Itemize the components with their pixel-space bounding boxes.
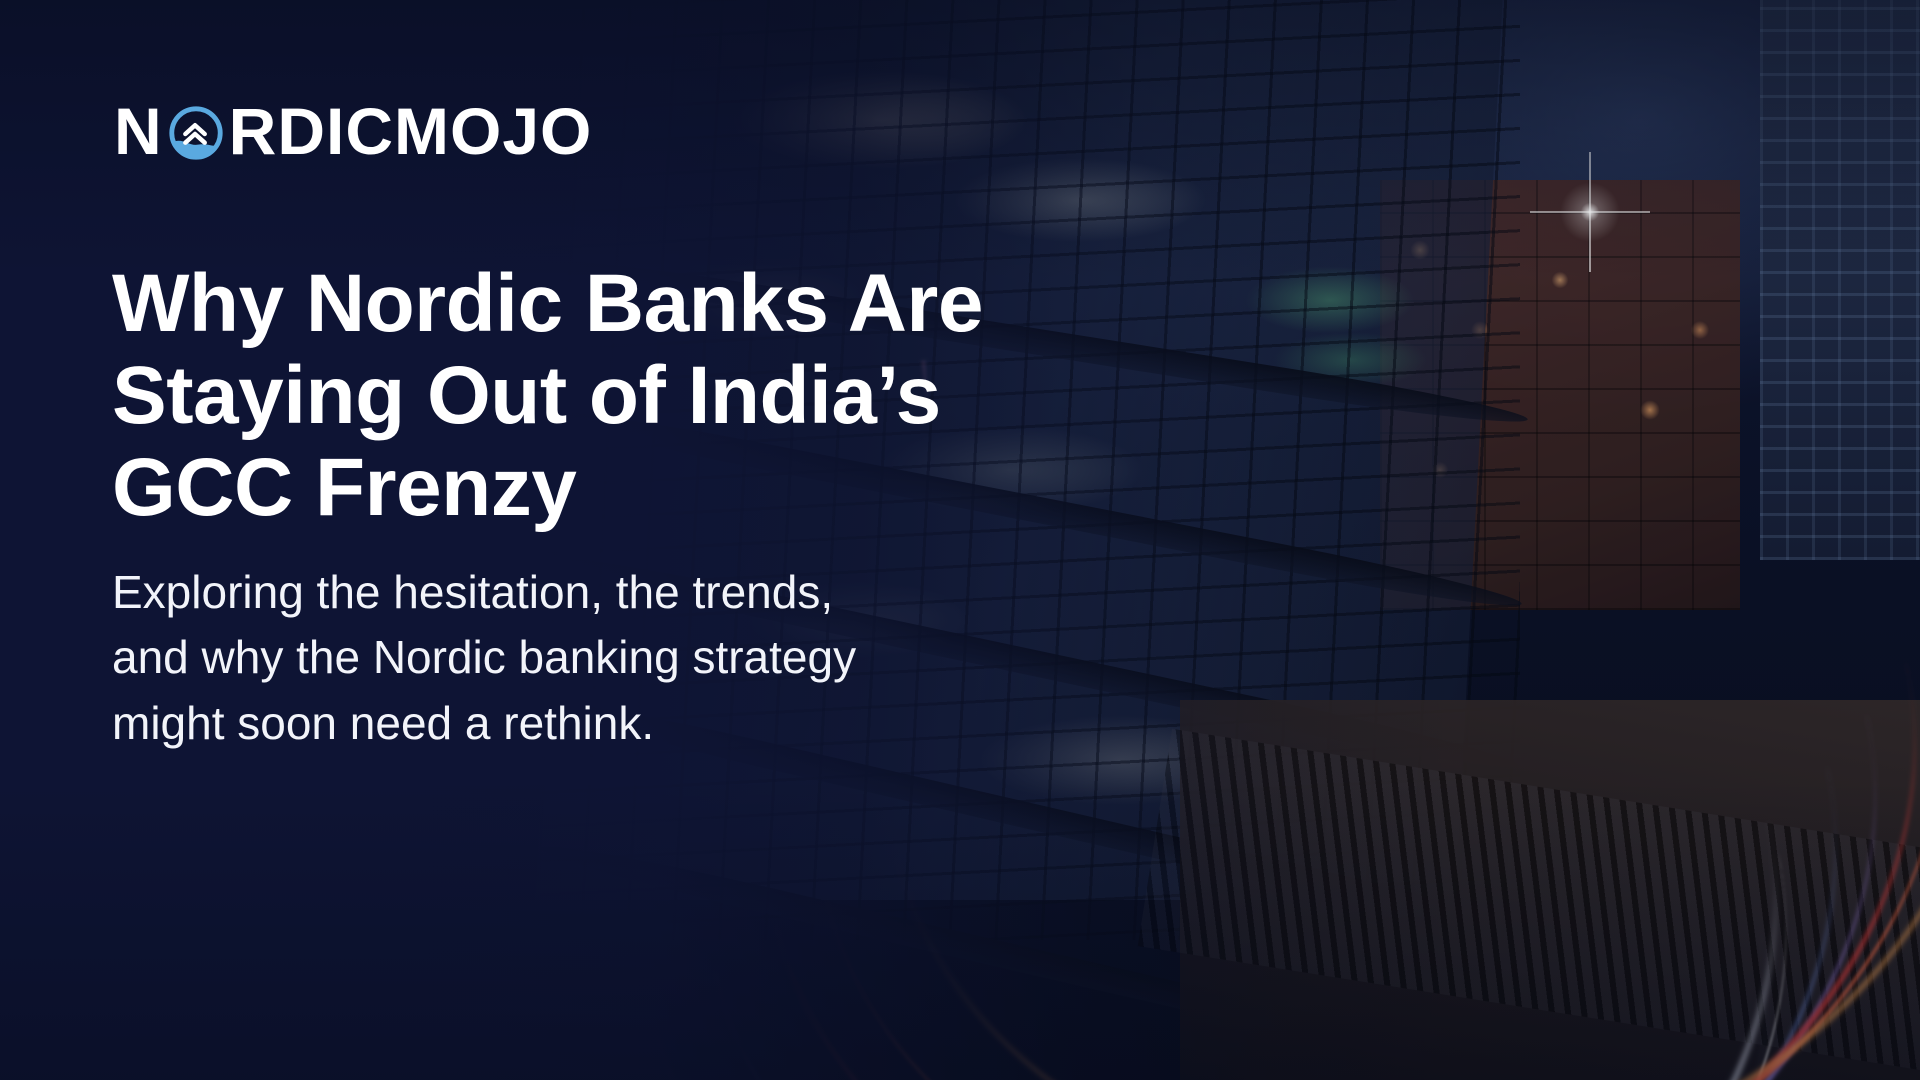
headline-line-2: Staying Out of India’s	[112, 350, 1112, 442]
brand-logo-text-before: N	[114, 98, 163, 164]
hero-banner: N RDICMOJO	[0, 0, 1920, 1080]
double-chevron-up-circle-icon	[165, 102, 227, 164]
headline-line-3: GCC Frenzy	[112, 442, 1112, 534]
brand-logo-text: N RDICMOJO	[114, 98, 592, 164]
subtitle-line-1: Exploring the hesitation, the trends,	[112, 560, 1172, 625]
brand-logo[interactable]: N RDICMOJO	[114, 98, 592, 164]
headline-line-1: Why Nordic Banks Are	[112, 258, 1112, 350]
subtitle-line-2: and why the Nordic banking strategy	[112, 625, 1172, 690]
brand-logo-text-after: RDICMOJO	[229, 98, 593, 164]
page-subtitle: Exploring the hesitation, the trends, an…	[112, 560, 1172, 756]
hero-content: N RDICMOJO	[0, 0, 1920, 1080]
page-title: Why Nordic Banks Are Staying Out of Indi…	[112, 258, 1112, 533]
subtitle-line-3: might soon need a rethink.	[112, 691, 1172, 756]
